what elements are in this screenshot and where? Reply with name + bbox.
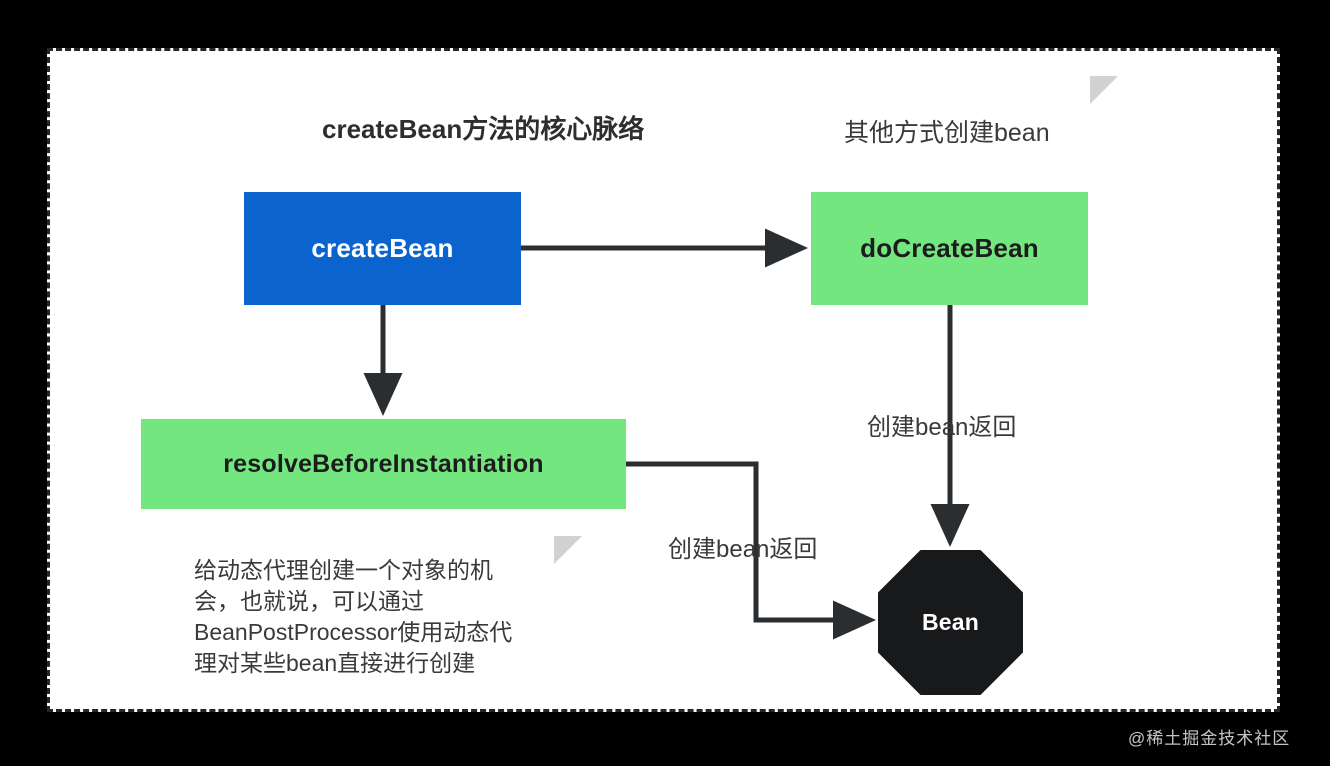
node-resolve-before-instantiation[interactable]: resolveBeforeInstantiation [141,419,626,509]
edge-label-return-bean-middle: 创建bean返回 [668,529,817,564]
node-bean[interactable]: Bean [878,550,1023,695]
node-do-create-bean[interactable]: doCreateBean [811,192,1088,305]
diagram-stage: createBean方法的核心脉络 其他方式创建bean createBean … [0,0,1330,766]
edge-label-return-bean-right: 创建bean返回 [867,407,1016,442]
triangle-marker-icon [1090,76,1118,104]
note-dynamic-proxy: 给动态代理创建一个对象的机 会，也就说，可以通过 BeanPostProcess… [194,555,554,679]
triangle-marker-icon [554,536,582,564]
diagram-canvas: createBean方法的核心脉络 其他方式创建bean createBean … [47,48,1280,712]
label-other-way-create-bean: 其他方式创建bean [844,113,1050,149]
node-create-bean[interactable]: createBean [244,192,521,305]
watermark: @稀土掘金技术社区 [1128,724,1290,749]
page-title: createBean方法的核心脉络 [322,109,644,146]
